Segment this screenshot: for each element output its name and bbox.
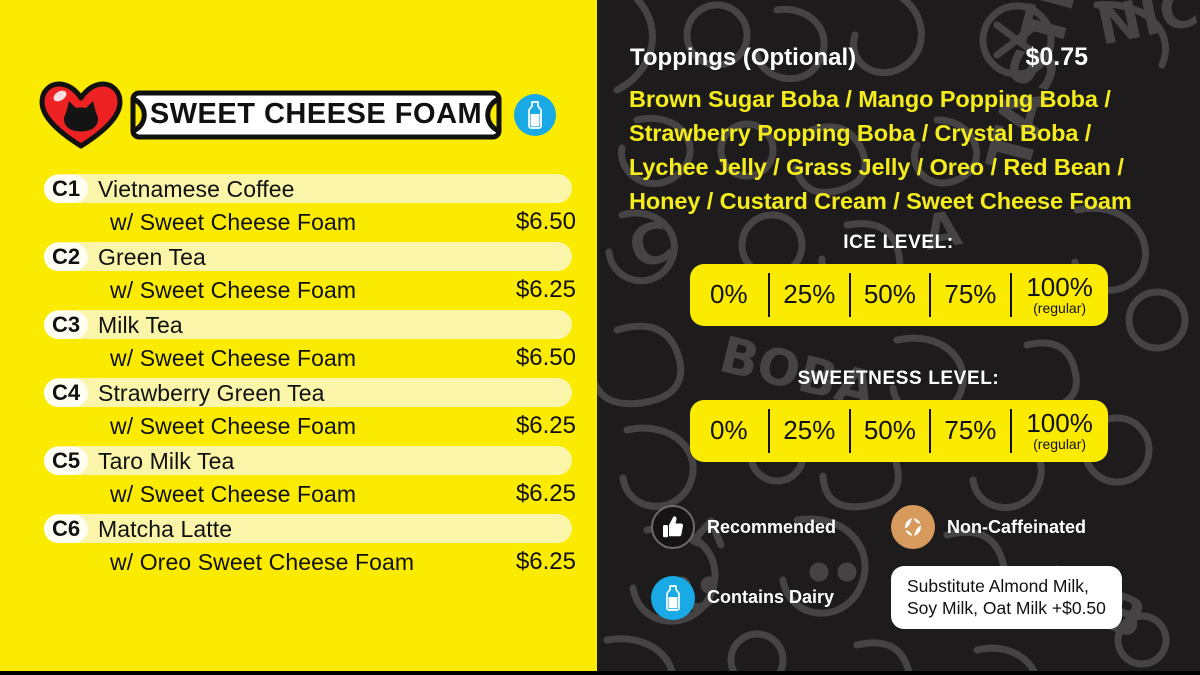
menu-item-sub-row: w/ Sweet Cheese Foam $6.25	[44, 272, 576, 308]
option-value: 100%	[1026, 274, 1093, 301]
menu-item-name-row: C5 Taro Milk Tea	[44, 446, 576, 476]
banner-plaque: SWEET CHEESE FOAM	[130, 90, 502, 140]
coffee-bean-icon	[891, 505, 935, 549]
ice-level-option-100[interactable]: 100% (regular)	[1010, 273, 1108, 317]
toppings-line: Honey / Custard Cream / Sweet Cheese Foa…	[629, 184, 1181, 218]
sweetness-level-title: SWEETNESS LEVEL:	[597, 368, 1200, 390]
option-value: 25%	[783, 281, 835, 308]
item-price: $6.50	[516, 208, 576, 236]
item-subtitle: w/ Sweet Cheese Foam	[110, 209, 356, 236]
toppings-header: Toppings (Optional) $0.75	[630, 43, 1170, 72]
menu-item-sub-row: w/ Sweet Cheese Foam $6.50	[44, 204, 576, 240]
legend-row-top: Recommended Non-Caffeinat	[597, 505, 1200, 549]
menu-item-name-row: C6 Matcha Latte	[44, 514, 576, 544]
sweetness-level-selector[interactable]: 0% 25% 50% 75% 100% (regular)	[690, 400, 1108, 462]
item-name: Strawberry Green Tea	[98, 380, 325, 407]
item-code-badge: C5	[44, 447, 88, 475]
ice-level-option-0[interactable]: 0%	[690, 273, 769, 317]
option-value: 25%	[783, 417, 835, 444]
option-value: 75%	[944, 417, 996, 444]
sweetness-level-section: SWEETNESS LEVEL: 0% 25% 50% 75%	[597, 368, 1200, 462]
toppings-title: Toppings (Optional)	[630, 44, 856, 72]
milk-substitution-note: Substitute Almond Milk, Soy Milk, Oat Mi…	[891, 566, 1122, 629]
right-panel-options: NICE TASTIC C A BOBA	[597, 0, 1200, 675]
milk-bottle-icon	[651, 576, 695, 620]
item-subtitle: w/ Sweet Cheese Foam	[110, 345, 356, 372]
item-price: $6.25	[516, 548, 576, 576]
milk-bottle-icon	[514, 94, 556, 136]
toppings-list: Brown Sugar Boba / Mango Popping Boba / …	[629, 82, 1181, 218]
item-subtitle: w/ Sweet Cheese Foam	[110, 481, 356, 508]
ice-level-option-75[interactable]: 75%	[929, 273, 1010, 317]
item-code-badge: C1	[44, 175, 88, 203]
item-price: $6.25	[516, 412, 576, 440]
brand-header: SWEET CHEESE FOAM	[38, 84, 568, 146]
menu-item[interactable]: C1 Vietnamese Coffee w/ Sweet Cheese Foa…	[44, 174, 576, 240]
substitution-note-line-2: Soy Milk, Oat Milk +$0.50	[907, 597, 1106, 619]
toppings-line: Strawberry Popping Boba / Crystal Boba /	[629, 116, 1181, 150]
item-price: $6.50	[516, 344, 576, 372]
item-name: Milk Tea	[98, 312, 183, 339]
item-subtitle: w/ Sweet Cheese Foam	[110, 277, 356, 304]
legend-row-bottom: Contains Dairy Substitute Almond Milk, S…	[597, 566, 1200, 629]
option-value: 0%	[710, 281, 748, 308]
banner-title: SWEET CHEESE FOAM	[130, 90, 502, 140]
heart-cat-logo-icon	[38, 81, 124, 149]
ice-level-title: ICE LEVEL:	[597, 232, 1200, 254]
legend-non-caffeinated-label: Non-Caffeinated	[947, 517, 1086, 538]
menu-list: C1 Vietnamese Coffee w/ Sweet Cheese Foa…	[44, 174, 576, 582]
item-name: Green Tea	[98, 244, 206, 271]
menu-item-sub-row: w/ Oreo Sweet Cheese Foam $6.25	[44, 544, 576, 580]
item-code-badge: C3	[44, 311, 88, 339]
sweetness-level-option-100[interactable]: 100% (regular)	[1010, 409, 1108, 453]
legend-contains-dairy-label: Contains Dairy	[707, 587, 834, 608]
item-code-badge: C6	[44, 515, 88, 543]
menu-item-sub-row: w/ Sweet Cheese Foam $6.25	[44, 408, 576, 444]
legend-recommended: Recommended	[651, 505, 891, 549]
item-price: $6.25	[516, 276, 576, 304]
item-price: $6.25	[516, 480, 576, 508]
option-note: (regular)	[1033, 437, 1086, 452]
legend-contains-dairy: Contains Dairy	[651, 576, 891, 620]
sweetness-level-option-75[interactable]: 75%	[929, 409, 1010, 453]
toppings-price: $0.75	[1025, 43, 1088, 72]
thumbs-up-icon	[651, 505, 695, 549]
item-code-badge: C4	[44, 379, 88, 407]
item-subtitle: w/ Oreo Sweet Cheese Foam	[110, 549, 414, 576]
legend-recommended-label: Recommended	[707, 517, 836, 538]
menu-item[interactable]: C2 Green Tea w/ Sweet Cheese Foam $6.25	[44, 242, 576, 308]
left-panel-sweet-cheese-foam: SWEET CHEESE FOAM C1 Vietnamese Coffee w…	[0, 0, 597, 675]
item-subtitle: w/ Sweet Cheese Foam	[110, 413, 356, 440]
menu-item[interactable]: C6 Matcha Latte w/ Oreo Sweet Cheese Foa…	[44, 514, 576, 580]
ice-level-selector[interactable]: 0% 25% 50% 75% 100% (regular)	[690, 264, 1108, 326]
menu-item-name-row: C4 Strawberry Green Tea	[44, 378, 576, 408]
ice-level-section: ICE LEVEL: 0% 25% 50% 75% 100%	[597, 232, 1200, 326]
substitution-note-line-1: Substitute Almond Milk,	[907, 575, 1106, 597]
option-note: (regular)	[1033, 301, 1086, 316]
toppings-line: Lychee Jelly / Grass Jelly / Oreo / Red …	[629, 150, 1181, 184]
sweetness-level-option-0[interactable]: 0%	[690, 409, 769, 453]
bottom-black-strip	[0, 671, 1200, 675]
menu-item[interactable]: C5 Taro Milk Tea w/ Sweet Cheese Foam $6…	[44, 446, 576, 512]
menu-item-name-row: C3 Milk Tea	[44, 310, 576, 340]
item-name: Taro Milk Tea	[98, 448, 234, 475]
menu-board: SWEET CHEESE FOAM C1 Vietnamese Coffee w…	[0, 0, 1200, 675]
item-name: Matcha Latte	[98, 516, 232, 543]
sweetness-level-option-25[interactable]: 25%	[768, 409, 849, 453]
sweetness-level-option-50[interactable]: 50%	[849, 409, 930, 453]
ice-level-option-25[interactable]: 25%	[768, 273, 849, 317]
menu-item[interactable]: C4 Strawberry Green Tea w/ Sweet Cheese …	[44, 378, 576, 444]
menu-item-name-row: C1 Vietnamese Coffee	[44, 174, 576, 204]
option-value: 75%	[944, 281, 996, 308]
option-value: 50%	[864, 281, 916, 308]
option-value: 50%	[864, 417, 916, 444]
menu-item-name-row: C2 Green Tea	[44, 242, 576, 272]
option-value: 0%	[710, 417, 748, 444]
toppings-line: Brown Sugar Boba / Mango Popping Boba /	[629, 82, 1181, 116]
option-value: 100%	[1026, 410, 1093, 437]
menu-item-sub-row: w/ Sweet Cheese Foam $6.25	[44, 476, 576, 512]
menu-item[interactable]: C3 Milk Tea w/ Sweet Cheese Foam $6.50	[44, 310, 576, 376]
item-code-badge: C2	[44, 243, 88, 271]
legend-non-caffeinated: Non-Caffeinated	[891, 505, 1086, 549]
ice-level-option-50[interactable]: 50%	[849, 273, 930, 317]
item-name: Vietnamese Coffee	[98, 176, 294, 203]
menu-item-sub-row: w/ Sweet Cheese Foam $6.50	[44, 340, 576, 376]
